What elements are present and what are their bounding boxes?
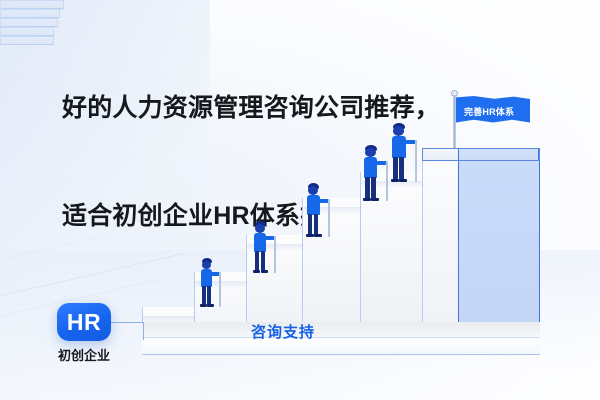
hr-badge-caption: 初创企业 [49, 345, 119, 364]
figure-4-foot-back [363, 198, 371, 201]
figure-5-leg-front [399, 157, 404, 180]
figure-4-leg-back [365, 177, 370, 199]
step-4-tread [0, 9, 60, 18]
figure-4-leg-front [371, 177, 376, 199]
figure-5-staff-icon [415, 140, 417, 182]
figure-5-torso [392, 136, 406, 158]
figure-3-foot-back [306, 234, 314, 237]
figure-2-torso [254, 233, 266, 252]
figure-3-head [308, 186, 318, 195]
figure-1-torso [201, 269, 212, 287]
figure-1-leg-front [207, 286, 211, 305]
figure-4-torso [364, 157, 377, 178]
figure-top [388, 123, 428, 181]
figure-1-foot-front [207, 304, 214, 307]
figure-5-foot-back [391, 179, 399, 182]
figure-3-leg-front [314, 214, 318, 235]
step-2-tread [0, 27, 54, 36]
figure-2-leg-back [255, 251, 259, 271]
figure-5-head [393, 126, 404, 136]
base-slab-edge [142, 337, 540, 355]
hr-badge-text: HR [67, 309, 101, 336]
figure-3-foot-front [314, 234, 322, 237]
figure-2-head [255, 224, 265, 233]
step-3-tread [0, 18, 58, 27]
figure-3-torso [307, 195, 320, 215]
flag-label: 完善HR体系 [464, 105, 514, 118]
figure-1 [197, 258, 231, 310]
figure-1-leg-back [202, 286, 206, 305]
figure-2-foot-front [261, 270, 268, 273]
flag-pole-icon [453, 95, 456, 151]
infographic-canvas: 好的人力资源管理咨询公司推荐， 适合初创企业HR体系搭建的 完善HR体系 咨询支… [0, 0, 600, 400]
figure-1-head [202, 261, 211, 269]
platform-cap-glass [458, 149, 539, 160]
figure-2-foot-back [253, 270, 260, 273]
figure-1-foot-back [200, 304, 207, 307]
figure-3-leg-back [308, 214, 312, 235]
figure-2-leg-front [261, 251, 265, 271]
step-5-tread [0, 0, 64, 9]
figure-5-foot-front [399, 179, 407, 182]
base-caption: 咨询支持 [251, 321, 315, 342]
figure-3 [303, 183, 341, 239]
step-1-tread [0, 36, 54, 45]
figure-4-foot-front [371, 198, 379, 201]
figure-4-head [365, 148, 376, 157]
figure-3-staff-icon [328, 199, 330, 237]
figure-1-staff-icon [219, 272, 221, 307]
figure-2-staff-icon [274, 236, 276, 273]
figure-5-leg-back [393, 157, 398, 180]
hr-badge[interactable]: HR [57, 303, 111, 341]
hr-connector-line [110, 322, 144, 340]
figure-2 [250, 221, 286, 275]
